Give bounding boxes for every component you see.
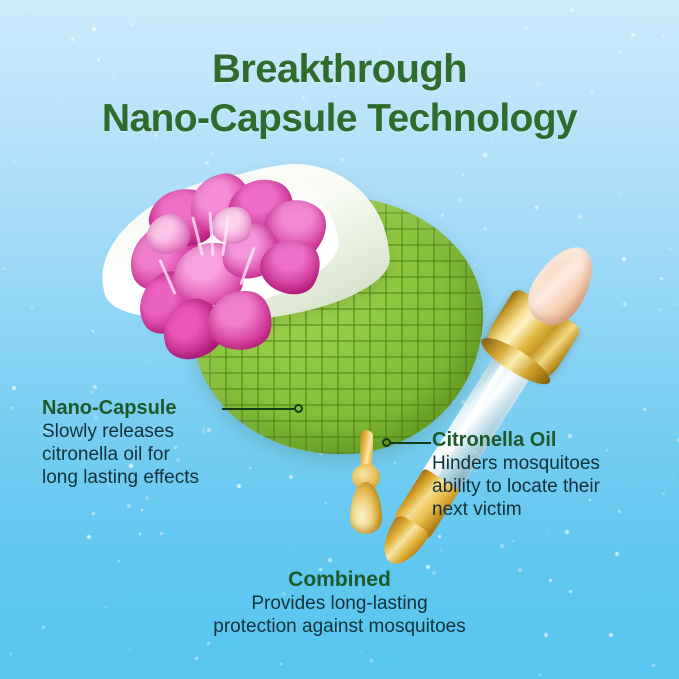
sparkle-dot: [130, 23, 133, 26]
callout-nano-capsule-line-2: citronella oil for: [42, 443, 302, 466]
sparkle-dot: [139, 560, 140, 561]
sparkle-dot: [578, 215, 582, 219]
sparkle-dot: [205, 161, 209, 165]
sparkle-dot: [643, 408, 646, 411]
sparkle-dot: [117, 227, 118, 228]
sparkle-dot: [71, 37, 75, 41]
sparkle-dot: [118, 560, 120, 562]
sparkle-dot: [535, 206, 538, 209]
sparkle-dot: [660, 277, 663, 280]
callout-combined-line-1: Provides long-lasting: [0, 592, 679, 615]
callout-citronella-oil-line-1: Hinders mosquitoes: [432, 452, 674, 475]
sparkle-dot: [283, 489, 284, 490]
sparkle-dot: [370, 659, 373, 662]
sparkle-dot: [430, 34, 432, 36]
sparkle-dot: [12, 386, 16, 390]
sparkle-dot: [618, 193, 620, 195]
sparkle-dot: [211, 153, 213, 155]
callout-nano-capsule: Nano-Capsule Slowly releases citronella …: [42, 396, 302, 489]
page-title: Breakthrough Nano-Capsule Technology: [0, 44, 679, 144]
sparkle-dot: [10, 653, 12, 655]
leader-line-node: [382, 438, 391, 447]
sparkle-dot: [123, 216, 124, 217]
sparkle-dot: [92, 512, 95, 515]
callout-nano-capsule-body: Slowly releases citronella oil for long …: [42, 420, 302, 489]
sparkle-dot: [29, 8, 31, 10]
callout-combined-heading: Combined: [0, 568, 679, 592]
sparkle-dot: [127, 504, 131, 508]
callout-combined-line-2: protection against mosquitoes: [0, 615, 679, 638]
sparkle-dot: [483, 153, 487, 157]
sparkle-dot: [11, 407, 13, 409]
flower-graphic: [126, 172, 336, 372]
sparkle-dot: [195, 657, 198, 660]
leader-line-citronella-oil: [382, 437, 431, 448]
sparkle-dot: [631, 33, 635, 37]
callout-citronella-oil: Citronella Oil Hinders mosquitoes abilit…: [432, 428, 674, 521]
sparkle-dot: [652, 664, 655, 667]
sparkle-dot: [280, 663, 282, 665]
sparkle-dot: [13, 161, 15, 163]
sparkle-dot: [3, 268, 5, 270]
sparkle-dot: [570, 8, 574, 12]
sparkle-dot: [330, 4, 332, 6]
sparkle-dot: [91, 391, 94, 394]
sparkle-dot: [361, 652, 362, 653]
callout-citronella-oil-line-2: ability to locate their: [432, 475, 674, 498]
callout-combined-body: Provides long-lasting protection against…: [0, 592, 679, 638]
sparkle-dot: [93, 385, 97, 389]
sparkle-dot: [31, 306, 33, 308]
sparkle-dot: [129, 649, 130, 650]
sparkle-dot: [565, 530, 569, 534]
sparkle-dot: [41, 154, 42, 155]
sparkle-dot: [87, 535, 91, 539]
leader-line-segment: [391, 442, 431, 444]
sparkle-dot: [92, 27, 96, 31]
title-line-2: Nano-Capsule Technology: [0, 94, 679, 144]
sparkle-dot: [462, 174, 464, 176]
sparkle-dot: [141, 509, 143, 511]
sparkle-dot: [92, 17, 93, 18]
sparkle-dot: [145, 496, 149, 500]
callout-citronella-oil-line-3: next victim: [432, 498, 674, 521]
sparkle-dot: [3, 148, 4, 149]
sparkle-dot: [325, 502, 327, 504]
sparkle-dot: [139, 533, 141, 535]
sparkle-dot: [160, 532, 163, 535]
sparkle-dot: [615, 552, 619, 556]
title-line-1: Breakthrough: [0, 44, 679, 94]
sparkle-dot: [539, 674, 541, 676]
callout-nano-capsule-line-1: Slowly releases: [42, 420, 302, 443]
infographic-canvas: Breakthrough Nano-Capsule Technology: [0, 0, 679, 679]
sparkle-dot: [622, 257, 626, 261]
sparkle-dot: [341, 158, 344, 161]
sparkle-dot: [146, 512, 147, 513]
sparkle-dot: [270, 153, 271, 154]
sparkle-dot: [668, 247, 671, 250]
callout-nano-capsule-heading: Nano-Capsule: [42, 396, 302, 420]
sparkle-dot: [524, 26, 528, 30]
sparkle-dot: [207, 642, 210, 645]
callout-citronella-oil-heading: Citronella Oil: [432, 428, 674, 452]
callout-combined: Combined Provides long-lasting protectio…: [0, 568, 679, 638]
sparkle-dot: [92, 330, 94, 332]
sparkle-dot: [460, 15, 461, 16]
sparkle-dot: [295, 548, 296, 549]
sparkle-dot: [662, 35, 665, 38]
sparkle-dot: [51, 265, 52, 266]
callout-citronella-oil-body: Hinders mosquitoes ability to locate the…: [432, 452, 674, 521]
callout-nano-capsule-line-3: long lasting effects: [42, 466, 302, 489]
